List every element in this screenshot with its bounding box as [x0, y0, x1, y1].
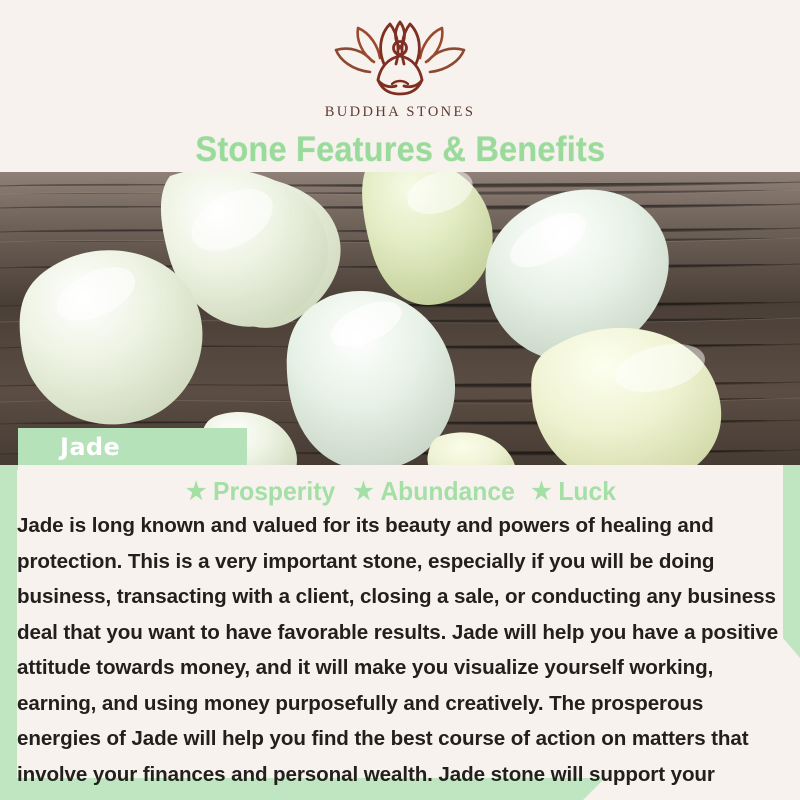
benefit-item-prosperity: ★ Prosperity — [186, 476, 335, 507]
stone-info-poster: BUDDHA STONES Stone Features & Benefits — [0, 0, 800, 800]
brand-logo: BUDDHA STONES — [320, 18, 480, 121]
stone-name-band: Jade — [18, 428, 247, 465]
lotus-meditation-icon — [320, 18, 480, 101]
benefit-label: Prosperity — [213, 476, 335, 507]
stone-photo: Jade — [0, 172, 800, 465]
benefits-row: ★ Prosperity ★ Abundance ★ Luck — [0, 476, 800, 507]
benefit-label: Abundance — [380, 476, 514, 507]
stone-name-label: Jade — [60, 433, 120, 461]
description-block: Jade is long known and valued for its be… — [17, 508, 785, 800]
description-text: Jade is long known and valued for its be… — [17, 508, 785, 800]
page-title: Stone Features & Benefits — [195, 130, 605, 170]
benefit-label: Luck — [558, 476, 616, 507]
decorative-bar-left-body — [0, 470, 17, 780]
star-icon: ★ — [353, 480, 373, 504]
star-icon: ★ — [531, 480, 551, 504]
poster-header: BUDDHA STONES Stone Features & Benefits — [0, 0, 800, 172]
star-icon: ★ — [186, 480, 206, 504]
benefit-item-luck: ★ Luck — [531, 476, 616, 507]
benefit-item-abundance: ★ Abundance — [353, 476, 515, 507]
jade-stones-illustration — [0, 172, 800, 465]
brand-name: BUDDHA STONES — [325, 104, 476, 121]
